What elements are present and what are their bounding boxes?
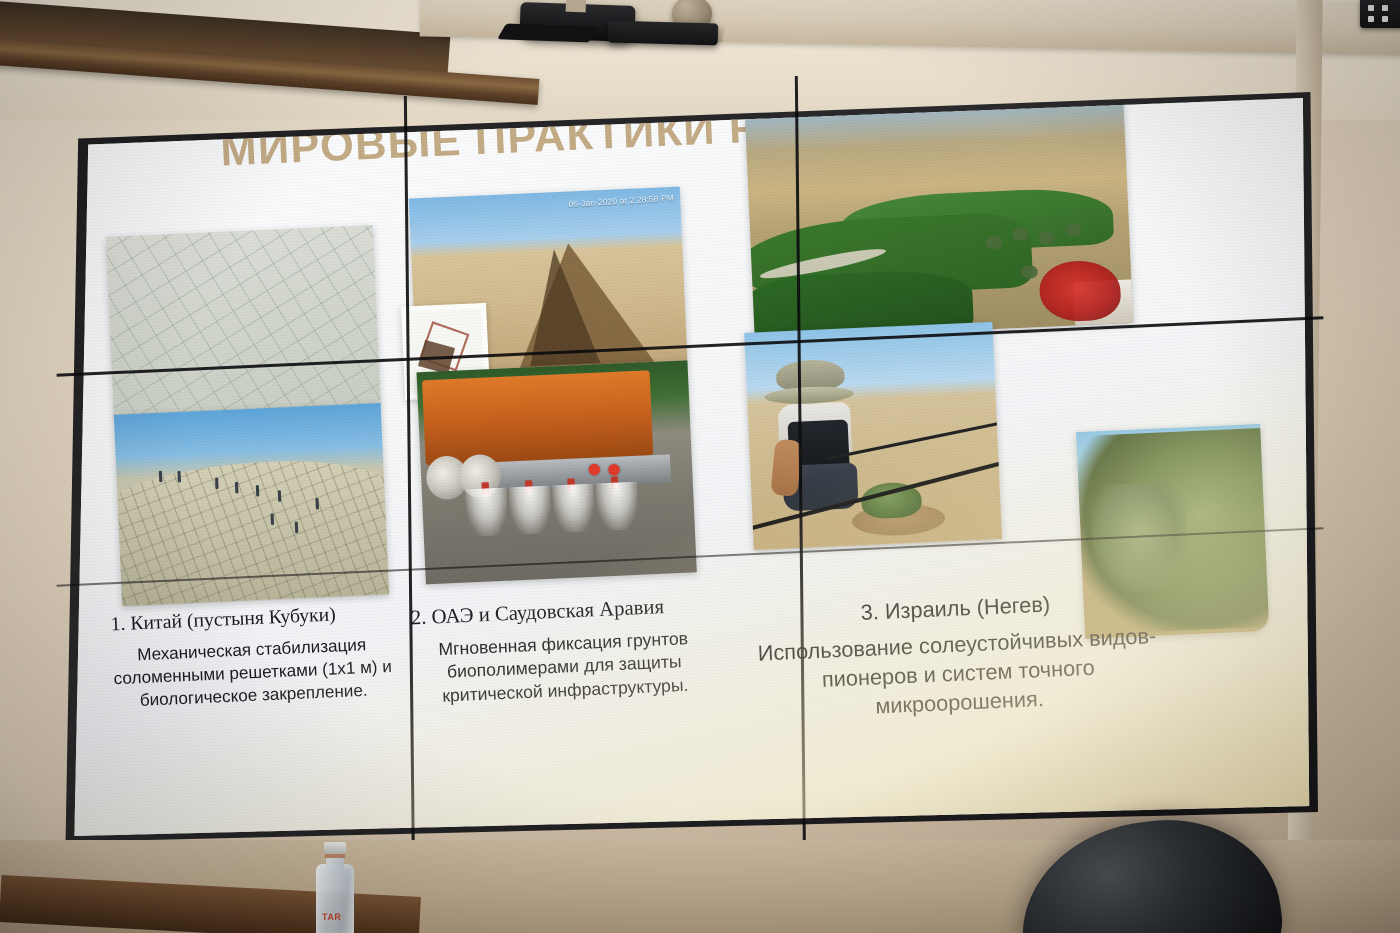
worker-figure [159, 470, 163, 482]
caption-column-1: 1. Китай (пустыня Кубуки) Механическая с… [100, 601, 404, 714]
negev-green-fields-photo [745, 101, 1133, 340]
straw-grid-aerial-photo [106, 225, 381, 418]
caption-body-uae: Мгновенная фиксация грунтов биополимерам… [408, 626, 721, 709]
worker-figure [271, 513, 275, 525]
bottle-label: TAR [322, 912, 348, 928]
spray-plume [552, 483, 595, 532]
tanker-body [422, 370, 653, 465]
olive-tree [985, 235, 1002, 249]
bottle-seal-ring [325, 854, 345, 858]
spray-truck-photo [416, 360, 696, 584]
water-bottle: TAR [312, 842, 358, 933]
conference-room-scene: МИРОВЫЕ ПРАКТИКИ РЕКУЛЬТИВАЦИИ [0, 0, 1400, 933]
drip-line [825, 419, 1002, 461]
spray-plume [465, 487, 508, 536]
photo-timestamp: 06-Jan-2020 at 2:28:58 PM [568, 193, 674, 209]
worker-figure [278, 490, 282, 502]
olive-tree [1021, 265, 1038, 279]
drip-irrigation-planting-photo [744, 322, 1002, 550]
caption-body-china: Механическая стабилизация соломенными ре… [101, 633, 404, 714]
worker-figure [315, 498, 319, 510]
red-flowering-shrub [1038, 259, 1121, 323]
presentation-slide: МИРОВЫЕ ПРАКТИКИ РЕКУЛЬТИВАЦИИ [58, 92, 1318, 842]
video-wall: МИРОВЫЕ ПРАКТИКИ РЕКУЛЬТИВАЦИИ [0, 0, 1400, 933]
worker-figure [234, 482, 238, 494]
dune-surface [114, 456, 389, 606]
spray-plume [595, 482, 638, 531]
spray-plume [508, 485, 551, 534]
caption-column-2: 2. ОАЭ и Саудовская Аравия Мгновенная фи… [406, 593, 721, 710]
bottle-cap [324, 842, 346, 854]
person-arm [770, 439, 802, 497]
worker-figure [256, 485, 260, 497]
olive-tree [1038, 231, 1055, 245]
